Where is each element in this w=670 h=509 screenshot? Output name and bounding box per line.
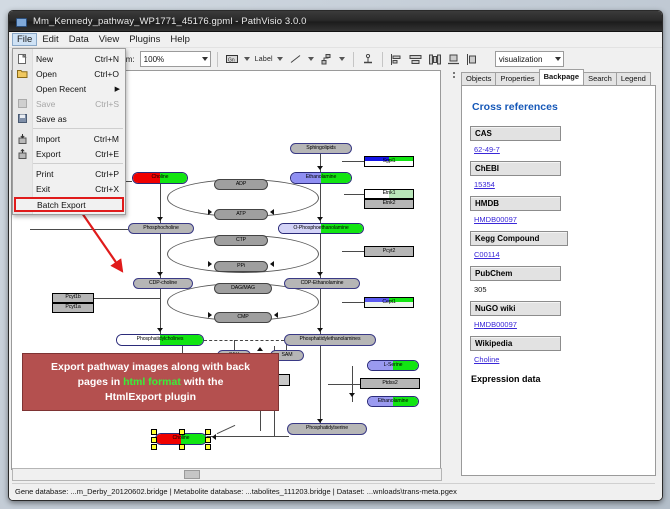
xref-value-nugo-wiki[interactable]: HMDB00097 bbox=[474, 320, 647, 329]
chevron-right-icon: ▶ bbox=[115, 85, 125, 93]
node-o-phosphoethanolamine[interactable]: O-Phosphoethanolamine bbox=[278, 223, 364, 234]
menu-item-label: Import bbox=[32, 134, 94, 144]
selection-handle[interactable] bbox=[179, 429, 185, 435]
menu-item-open-recent[interactable]: Open Recent ▶ bbox=[13, 81, 125, 96]
annotation-line-2b: with the bbox=[181, 376, 224, 388]
selection-handle[interactable] bbox=[151, 437, 157, 443]
file-menu-dropdown: New Ctrl+N Open Ctrl+O Open Recent ▶ Sav… bbox=[12, 48, 126, 215]
node-ptdss2[interactable]: Ptdss2 bbox=[360, 378, 420, 389]
label-tool-label[interactable]: Label bbox=[255, 56, 273, 63]
node-label: Phosphatidylcholines bbox=[137, 337, 184, 342]
annotation-line-2a: pages in bbox=[78, 376, 124, 388]
status-bar: Gene database: ...m_Derby_20120602.bridg… bbox=[12, 483, 655, 498]
node-cept1[interactable]: Cept1 bbox=[364, 297, 414, 308]
edge bbox=[342, 251, 366, 252]
line-icon[interactable] bbox=[288, 51, 304, 67]
menu-item-save[interactable]: Save Ctrl+S bbox=[13, 96, 125, 111]
menu-separator bbox=[33, 163, 123, 164]
menu-item-label: New bbox=[32, 54, 95, 64]
menu-item-accel: Ctrl+N bbox=[95, 54, 125, 64]
menu-item-open[interactable]: Open Ctrl+O bbox=[13, 66, 125, 81]
selection-handle[interactable] bbox=[205, 444, 211, 450]
chevron-down-icon bbox=[202, 57, 208, 61]
cross-references-heading: Cross references bbox=[472, 101, 647, 113]
menu-help[interactable]: Help bbox=[165, 33, 195, 46]
align-right-icon[interactable] bbox=[465, 51, 481, 67]
anchor-icon[interactable] bbox=[360, 51, 376, 67]
menu-item-label: Save as bbox=[32, 114, 119, 124]
node-label: L-Serine bbox=[384, 363, 403, 368]
zoom-value: 100% bbox=[144, 55, 164, 64]
node-adp[interactable]: ADP bbox=[214, 179, 268, 190]
selection-handle[interactable] bbox=[205, 437, 211, 443]
menu-item-label: Open bbox=[32, 69, 94, 79]
edge bbox=[207, 436, 289, 437]
scrollbar-thumb[interactable] bbox=[184, 470, 200, 479]
menu-item-import[interactable]: Import Ctrl+M bbox=[13, 131, 125, 146]
node-label: Etnk2 bbox=[383, 201, 396, 206]
toolbar-separator bbox=[217, 52, 218, 67]
node-label: DAG/MAG bbox=[231, 286, 255, 291]
zoom-combo[interactable]: 100% bbox=[140, 51, 211, 67]
arrow-icon bbox=[257, 347, 263, 351]
tab-objects[interactable]: Objects bbox=[461, 72, 496, 85]
xref-value-kegg-compound[interactable]: C00114 bbox=[474, 250, 647, 259]
selection-handle[interactable] bbox=[151, 444, 157, 450]
side-panel-tabs: Objects Properties Backpage Search Legen… bbox=[457, 71, 660, 85]
menu-item-label: Exit bbox=[32, 184, 95, 194]
arrow-icon bbox=[317, 166, 323, 170]
tab-properties[interactable]: Properties bbox=[495, 72, 539, 85]
node-label: Sgpl1 bbox=[383, 159, 396, 164]
xref-value-chebi[interactable]: 15354 bbox=[474, 180, 647, 189]
menu-item-new[interactable]: New Ctrl+N bbox=[13, 51, 125, 66]
arrow-icon bbox=[208, 209, 212, 215]
node-cdp-ethanolamine[interactable]: CDP-Ethanolamine bbox=[284, 278, 360, 289]
xref-label-chebi: ChEBI bbox=[470, 161, 561, 176]
menu-separator bbox=[33, 128, 123, 129]
selection-handle[interactable] bbox=[151, 429, 157, 435]
node-l-serine[interactable]: L-Serine bbox=[367, 360, 419, 371]
node-label: Sphingolipids bbox=[306, 146, 336, 151]
xref-value-wikipedia[interactable]: Choline bbox=[474, 355, 647, 364]
pathvisio-icon bbox=[15, 15, 28, 28]
align-bottom-icon[interactable] bbox=[446, 51, 462, 67]
xref-label-cas: CAS bbox=[470, 126, 561, 141]
node-sphingolipids[interactable]: Sphingolipids bbox=[290, 143, 352, 154]
export-icon bbox=[13, 149, 32, 159]
node-label: ADP bbox=[236, 182, 246, 187]
node-label: O-Phosphoethanolamine bbox=[293, 226, 348, 231]
menu-item-print[interactable]: Print Ctrl+P bbox=[13, 166, 125, 181]
arrow-icon bbox=[270, 261, 274, 267]
chevron-down-icon bbox=[555, 57, 561, 61]
toolbar-separator-3 bbox=[382, 52, 383, 67]
node-label: CDP-Ethanolamine bbox=[301, 281, 344, 286]
menu-view[interactable]: View bbox=[94, 33, 124, 46]
edge bbox=[204, 340, 284, 341]
arrow-icon bbox=[349, 393, 355, 397]
arrow-icon bbox=[274, 312, 278, 318]
arrow-icon bbox=[270, 209, 274, 215]
node-etnk2[interactable]: Etnk2 bbox=[364, 199, 414, 209]
node-label: Cept1 bbox=[382, 300, 395, 305]
edge bbox=[342, 302, 366, 303]
menu-file[interactable]: File bbox=[12, 33, 37, 46]
backpage-content: Cross references CAS 62-49-7 ChEBI 15354… bbox=[461, 85, 656, 476]
menu-data[interactable]: Data bbox=[64, 33, 94, 46]
arrow-icon bbox=[317, 328, 323, 332]
node-label: Ethanolamine bbox=[306, 175, 337, 180]
arrow-icon bbox=[317, 272, 323, 276]
align-center-icon[interactable] bbox=[408, 51, 424, 67]
arrow-icon bbox=[157, 328, 163, 332]
align-middle-icon[interactable] bbox=[427, 51, 443, 67]
node-etnk1[interactable]: Etnk1 bbox=[364, 189, 414, 199]
tab-backpage[interactable]: Backpage bbox=[539, 69, 584, 84]
menu-bar: File Edit Data View Plugins Help bbox=[9, 32, 662, 48]
xref-value-cas[interactable]: 62-49-7 bbox=[474, 145, 647, 154]
node-ctp[interactable]: CTP bbox=[214, 235, 268, 246]
node-ethanolamine-top[interactable]: Ethanolamine bbox=[290, 172, 352, 184]
node-sgpl1[interactable]: Sgpl1 bbox=[364, 156, 414, 167]
node-dag-mag[interactable]: DAG/MAG bbox=[214, 283, 272, 294]
arrow-icon bbox=[208, 312, 212, 318]
annotation-highlight: html format bbox=[123, 376, 181, 388]
window-title: Mm_Kennedy_pathway_WP1771_45176.gpml - P… bbox=[33, 16, 307, 27]
gene-box-icon[interactable]: Gn bbox=[224, 51, 240, 67]
node-ppi[interactable]: PPi bbox=[214, 261, 268, 272]
xref-value-pubchem: 305 bbox=[474, 285, 647, 294]
annotation-line-1: Export pathway images along with back bbox=[51, 360, 250, 375]
xref-label-nugo-wiki: NuGO wiki bbox=[470, 301, 561, 316]
xref-label-pubchem: PubChem bbox=[470, 266, 561, 281]
menu-item-exit[interactable]: Exit Ctrl+X bbox=[13, 181, 125, 196]
node-pcyt2[interactable]: Pcyt2 bbox=[364, 246, 414, 257]
selected-node-choline[interactable]: Choline bbox=[155, 433, 207, 445]
node-label: Pcyt2 bbox=[383, 249, 395, 254]
menu-item-export[interactable]: Export Ctrl+E bbox=[13, 146, 125, 161]
side-panel-scrollbar[interactable] bbox=[656, 85, 661, 476]
menu-item-accel: Ctrl+S bbox=[95, 99, 125, 109]
tab-search[interactable]: Search bbox=[583, 72, 617, 85]
svg-text:Gn: Gn bbox=[228, 58, 235, 64]
node-phosphatidylserine[interactable]: Phosphatidylserine bbox=[287, 423, 367, 435]
visualization-combo[interactable]: visualization bbox=[495, 51, 564, 67]
xref-value-hmdb[interactable]: HMDB00097 bbox=[474, 215, 647, 224]
save-as-icon bbox=[13, 114, 32, 123]
node-label: ATP bbox=[236, 212, 245, 217]
canvas-horizontal-scrollbar[interactable] bbox=[12, 468, 442, 481]
tab-legend[interactable]: Legend bbox=[616, 72, 651, 85]
pathvisio-window: Mm_Kennedy_pathway_WP1771_45176.gpml - P… bbox=[8, 10, 663, 501]
folder-open-icon bbox=[13, 69, 32, 78]
node-label: SAM bbox=[282, 353, 293, 358]
menu-item-accel: Ctrl+P bbox=[95, 169, 125, 179]
selection-handle[interactable] bbox=[205, 429, 211, 435]
edge bbox=[217, 425, 236, 434]
menu-item-label: Open Recent bbox=[32, 84, 115, 94]
xref-label-wikipedia: Wikipedia bbox=[470, 336, 561, 351]
save-icon bbox=[13, 99, 32, 108]
edge bbox=[328, 384, 362, 385]
menu-item-accel: Ctrl+X bbox=[95, 184, 125, 194]
menu-item-label: Export bbox=[32, 149, 95, 159]
expression-data-heading: Expression data bbox=[471, 374, 647, 384]
node-ethanolamine-bottom[interactable]: Ethanolamine bbox=[367, 396, 419, 407]
node-atp[interactable]: ATP bbox=[214, 209, 268, 220]
node-label: Choline bbox=[173, 436, 190, 441]
node-label: Phosphatidylethanolamines bbox=[300, 337, 361, 342]
align-left-icon[interactable] bbox=[389, 51, 405, 67]
new-file-icon bbox=[13, 54, 32, 64]
arrow-icon bbox=[317, 217, 323, 221]
menu-item-save-as[interactable]: Save as bbox=[13, 111, 125, 126]
node-phosphatidylethanolamines[interactable]: Phosphatidylethanolamines bbox=[284, 334, 376, 346]
gene-box-dropdown-icon[interactable] bbox=[244, 57, 250, 61]
node-cmp[interactable]: CMP bbox=[214, 312, 272, 323]
screenshot-root: Mm_Kennedy_pathway_WP1771_45176.gpml - P… bbox=[0, 0, 670, 509]
annotation-callout: Export pathway images along with back pa… bbox=[22, 353, 279, 411]
annotation-line-3: HtmlExport plugin bbox=[105, 390, 196, 405]
annotation-line-2: pages in html format with the bbox=[78, 375, 224, 390]
node-phosphatidylcholines[interactable]: Phosphatidylcholines bbox=[116, 334, 204, 346]
connector-icon[interactable] bbox=[319, 51, 335, 67]
menu-item-accel: Ctrl+E bbox=[95, 149, 125, 159]
menu-item-accel: Ctrl+M bbox=[94, 134, 125, 144]
import-icon bbox=[13, 134, 32, 144]
node-label: Ethanolamine bbox=[378, 399, 409, 404]
menu-edit[interactable]: Edit bbox=[37, 33, 63, 46]
edge bbox=[342, 161, 366, 162]
status-text: Gene database: ...m_Derby_20120602.bridg… bbox=[15, 487, 457, 496]
visualization-value: visualization bbox=[499, 55, 543, 64]
node-label: CMP bbox=[237, 315, 248, 320]
menu-item-label: Batch Export bbox=[33, 200, 122, 210]
edge bbox=[234, 340, 235, 350]
selection-handle[interactable] bbox=[179, 444, 185, 450]
menu-item-label: Print bbox=[32, 169, 95, 179]
node-label: CTP bbox=[236, 238, 246, 243]
side-panel: Objects Properties Backpage Search Legen… bbox=[457, 68, 662, 500]
node-label: Etnk1 bbox=[383, 191, 396, 196]
toolbar-separator-2 bbox=[353, 52, 354, 67]
title-bar: Mm_Kennedy_pathway_WP1771_45176.gpml - P… bbox=[9, 11, 662, 32]
arrow-icon bbox=[208, 261, 212, 267]
node-label: Phosphatidylserine bbox=[306, 426, 348, 431]
label-dropdown-icon[interactable] bbox=[277, 57, 283, 61]
menu-item-accel: Ctrl+O bbox=[94, 69, 125, 79]
node-label: Ptdss2 bbox=[382, 381, 397, 386]
arrow-icon bbox=[212, 434, 216, 440]
connector-dropdown-icon[interactable] bbox=[339, 57, 345, 61]
edge bbox=[344, 194, 366, 195]
menu-item-batch-export[interactable]: Batch Export bbox=[14, 197, 124, 212]
node-label: PPi bbox=[237, 264, 245, 269]
menu-plugins[interactable]: Plugins bbox=[124, 33, 165, 46]
menu-item-label: Save bbox=[32, 99, 95, 109]
xref-label-kegg-compound: Kegg Compound bbox=[470, 231, 568, 246]
line-dropdown-icon[interactable] bbox=[308, 57, 314, 61]
edge bbox=[320, 346, 321, 426]
xref-label-hmdb: HMDB bbox=[470, 196, 561, 211]
